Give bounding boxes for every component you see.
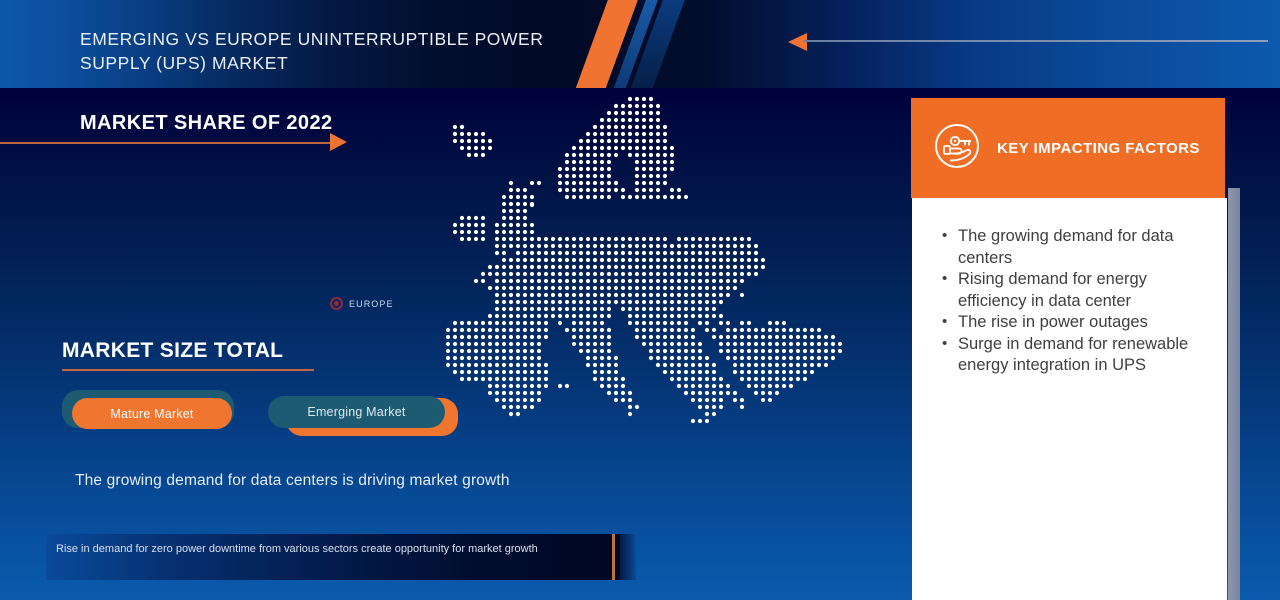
legend-emerging-label[interactable]: Emerging Market — [268, 396, 445, 428]
page-title: EMERGING VS EUROPE UNINTERRUPTIBLE POWER… — [80, 27, 600, 75]
legend-item-mature-market[interactable]: Mature Market — [62, 390, 252, 438]
legend-item-emerging-market[interactable]: Emerging Market — [258, 390, 458, 440]
key-factors-list: The growing demand for data centers Risi… — [912, 198, 1227, 377]
caption-band: Rise in demand for zero power downtime f… — [46, 534, 636, 580]
growth-note: The growing demand for data centers is d… — [75, 472, 510, 490]
list-item: Rising demand for energy efficiency in d… — [942, 269, 1209, 312]
header-arrow — [788, 33, 1268, 49]
europe-dot-map — [440, 95, 860, 445]
caption-end-block — [620, 534, 636, 580]
caption-text: Rise in demand for zero power downtime f… — [56, 542, 604, 557]
key-factors-header: KEY IMPACTING FACTORS — [911, 98, 1225, 198]
europe-region-marker: EUROPE — [330, 297, 394, 310]
list-item: The growing demand for data centers — [942, 226, 1209, 269]
market-share-label: MARKET SHARE OF 2022 — [80, 112, 333, 135]
market-size-underline — [62, 369, 314, 371]
header-arrow-line — [804, 40, 1268, 42]
target-center-dot — [334, 301, 339, 306]
europe-label: EUROPE — [349, 299, 394, 309]
list-item: Surge in demand for renewable energy int… — [942, 334, 1209, 377]
arrow-left-icon — [788, 33, 807, 51]
target-circle-icon — [330, 297, 343, 310]
list-item: The rise in power outages — [942, 312, 1209, 334]
infographic-slide: EMERGING VS EUROPE UNINTERRUPTIBLE POWER… — [0, 0, 1280, 600]
key-factors-card: The growing demand for data centers Risi… — [912, 198, 1227, 600]
header-bar: EMERGING VS EUROPE UNINTERRUPTIBLE POWER… — [0, 0, 1280, 88]
arrow-right-icon — [330, 133, 347, 151]
hand-holding-key-icon — [933, 122, 981, 175]
market-share-line — [0, 142, 332, 144]
legend-mature-label[interactable]: Mature Market — [72, 398, 232, 429]
market-size-total-label: MARKET SIZE TOTAL — [62, 339, 283, 363]
market-size-legend: Mature Market Emerging Market — [62, 390, 462, 438]
caption-accent-bar — [612, 534, 615, 580]
key-factors-card-shadow — [1228, 188, 1240, 600]
key-factors-title: KEY IMPACTING FACTORS — [997, 140, 1200, 157]
